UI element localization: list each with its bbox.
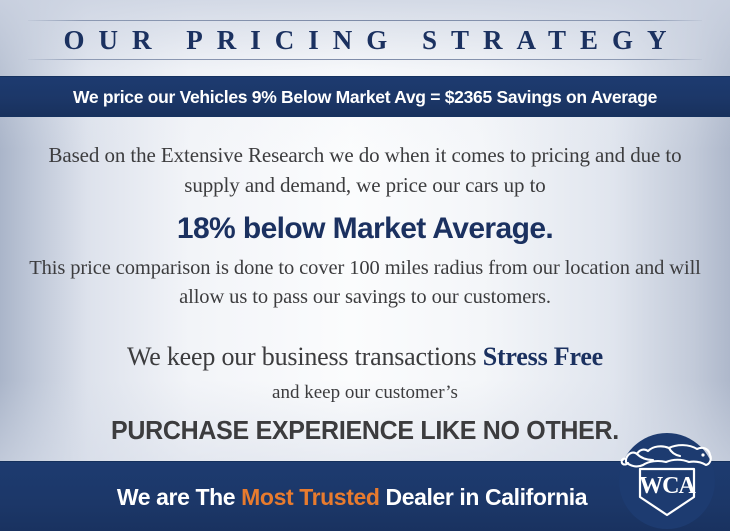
tagline-accent-stress-free: Stress Free — [483, 342, 603, 371]
wca-logo: WCA — [617, 431, 717, 531]
pricing-strategy-promo-card: OUR PRICING STRATEGY We price our Vehicl… — [0, 0, 730, 531]
title-block: OUR PRICING STRATEGY — [0, 0, 730, 76]
body-copy: Based on the Extensive Research we do wh… — [0, 126, 730, 448]
tagline-customer: and keep our customer’s — [0, 380, 730, 406]
logo-monogram: WCA — [639, 473, 696, 499]
pricing-banner: We price our Vehicles 9% Below Market Av… — [0, 76, 730, 117]
footer-prefix: We are The — [117, 484, 241, 510]
divider-rule-top — [28, 20, 702, 21]
paragraph-comparison: This price comparison is done to cover 1… — [0, 254, 730, 312]
footer-suffix: Dealer in California — [380, 484, 588, 510]
divider-rule-bottom — [28, 59, 702, 60]
stat-headline: 18% below Market Average. — [0, 208, 730, 250]
tagline-prefix: We keep our business transactions — [127, 342, 483, 371]
footer-accent-most-trusted: Most Trusted — [241, 484, 379, 510]
tagline-purchase-experience: PURCHASE EXPERIENCE LIKE NO OTHER. — [7, 414, 722, 448]
paragraph-research: Based on the Extensive Research we do wh… — [0, 126, 730, 200]
tagline-stress-free: We keep our business transactions Stress… — [0, 340, 730, 374]
page-title: OUR PRICING STRATEGY — [0, 23, 730, 57]
wca-shield-puma-icon: WCA — [617, 431, 717, 531]
pricing-banner-text: We price our Vehicles 9% Below Market Av… — [0, 77, 730, 118]
